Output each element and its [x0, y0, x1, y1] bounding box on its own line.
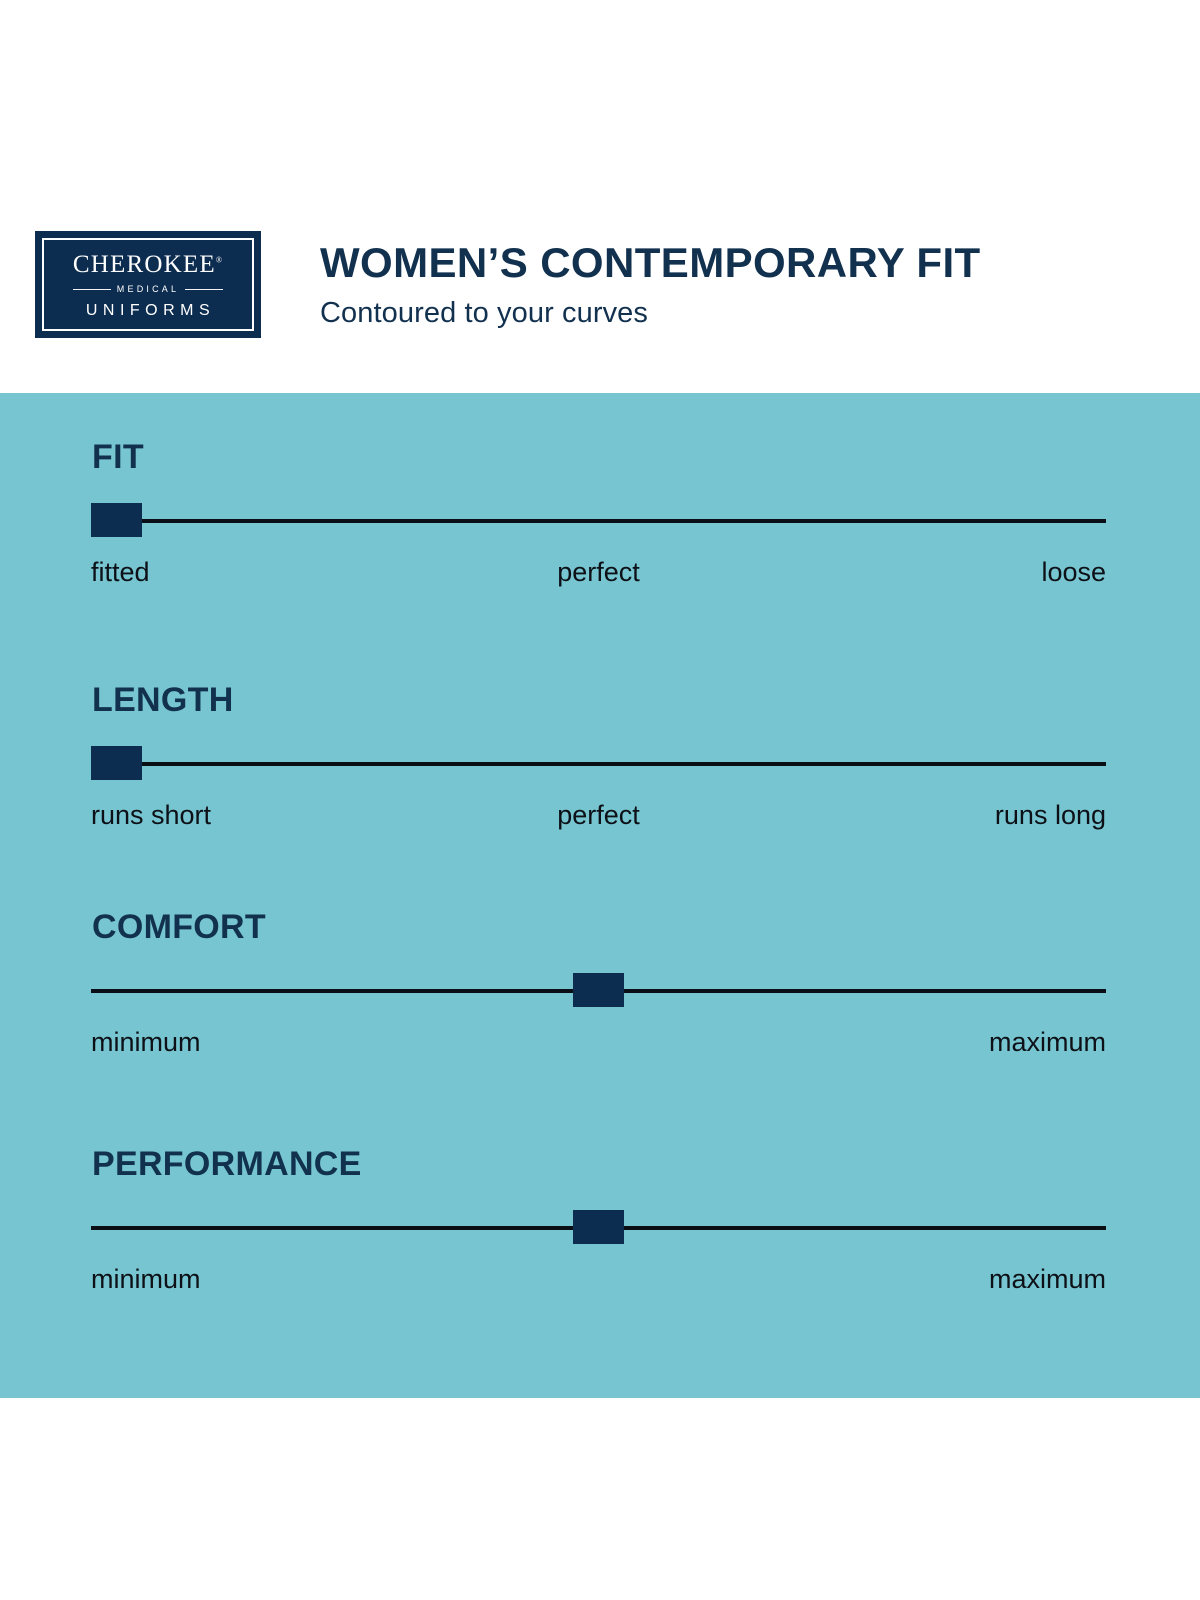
fit-scales-panel: FIT fitted perfect loose LENGTH runs sho… [0, 393, 1200, 1398]
fit-scale-labels: fitted perfect loose [91, 558, 1106, 592]
comfort-scale-title: COMFORT [92, 910, 1106, 944]
fit-scale-label-right: loose [1041, 558, 1106, 588]
comfort-scale-label-left: minimum [91, 1028, 201, 1058]
performance-scale-title: PERFORMANCE [92, 1147, 1106, 1181]
page-subtitle: Contoured to your curves [320, 296, 648, 331]
logo-rule-left-icon [73, 289, 111, 290]
comfort-scale-group: COMFORT minimum maximum [91, 910, 1106, 1062]
cherokee-logo[interactable]: CHEROKEE® MEDICAL UNIFORMS [35, 231, 261, 338]
logo-rule-right-icon [185, 289, 223, 290]
performance-slider-marker[interactable] [573, 1210, 624, 1244]
comfort-slider-marker[interactable] [573, 973, 624, 1007]
comfort-scale-label-right: maximum [989, 1028, 1106, 1058]
length-slider-track[interactable] [91, 746, 1106, 780]
logo-medical-text: MEDICAL [117, 285, 179, 294]
logo-medical-row: MEDICAL [73, 285, 223, 294]
fit-scale-group: FIT fitted perfect loose [91, 440, 1106, 592]
logo-brand-text: CHEROKEE [73, 251, 216, 278]
fit-slider-marker[interactable] [91, 503, 142, 537]
registered-trademark-icon: ® [216, 256, 223, 265]
performance-scale-labels: minimum maximum [91, 1265, 1106, 1299]
fit-scale-title: FIT [92, 440, 1106, 474]
performance-scale-label-right: maximum [989, 1265, 1106, 1295]
length-scale-title: LENGTH [92, 683, 1106, 717]
comfort-slider-track[interactable] [91, 973, 1106, 1007]
performance-scale-label-left: minimum [91, 1265, 201, 1295]
performance-slider-track[interactable] [91, 1210, 1106, 1244]
length-scale-label-center: perfect [557, 801, 640, 831]
page-title: WOMEN’S CONTEMPORARY FIT [320, 240, 981, 286]
performance-scale-group: PERFORMANCE minimum maximum [91, 1147, 1106, 1299]
fit-scale-label-left: fitted [91, 558, 150, 588]
fit-slider-track[interactable] [91, 503, 1106, 537]
logo-uniforms-text: UNIFORMS [86, 303, 215, 319]
page-header: CHEROKEE® MEDICAL UNIFORMS WOMEN’S CONTE… [0, 0, 1200, 393]
fit-scale-label-center: perfect [557, 558, 640, 588]
comfort-scale-labels: minimum maximum [91, 1028, 1106, 1062]
logo-brand-name: CHEROKEE® [73, 252, 223, 277]
length-slider-marker[interactable] [91, 746, 142, 780]
length-scale-label-left: runs short [91, 801, 211, 831]
length-track-line [91, 762, 1106, 766]
logo-frame: CHEROKEE® MEDICAL UNIFORMS [42, 238, 254, 331]
fit-track-line [91, 519, 1106, 523]
length-scale-group: LENGTH runs short perfect runs long [91, 683, 1106, 835]
length-scale-label-right: runs long [995, 801, 1106, 831]
length-scale-labels: runs short perfect runs long [91, 801, 1106, 835]
